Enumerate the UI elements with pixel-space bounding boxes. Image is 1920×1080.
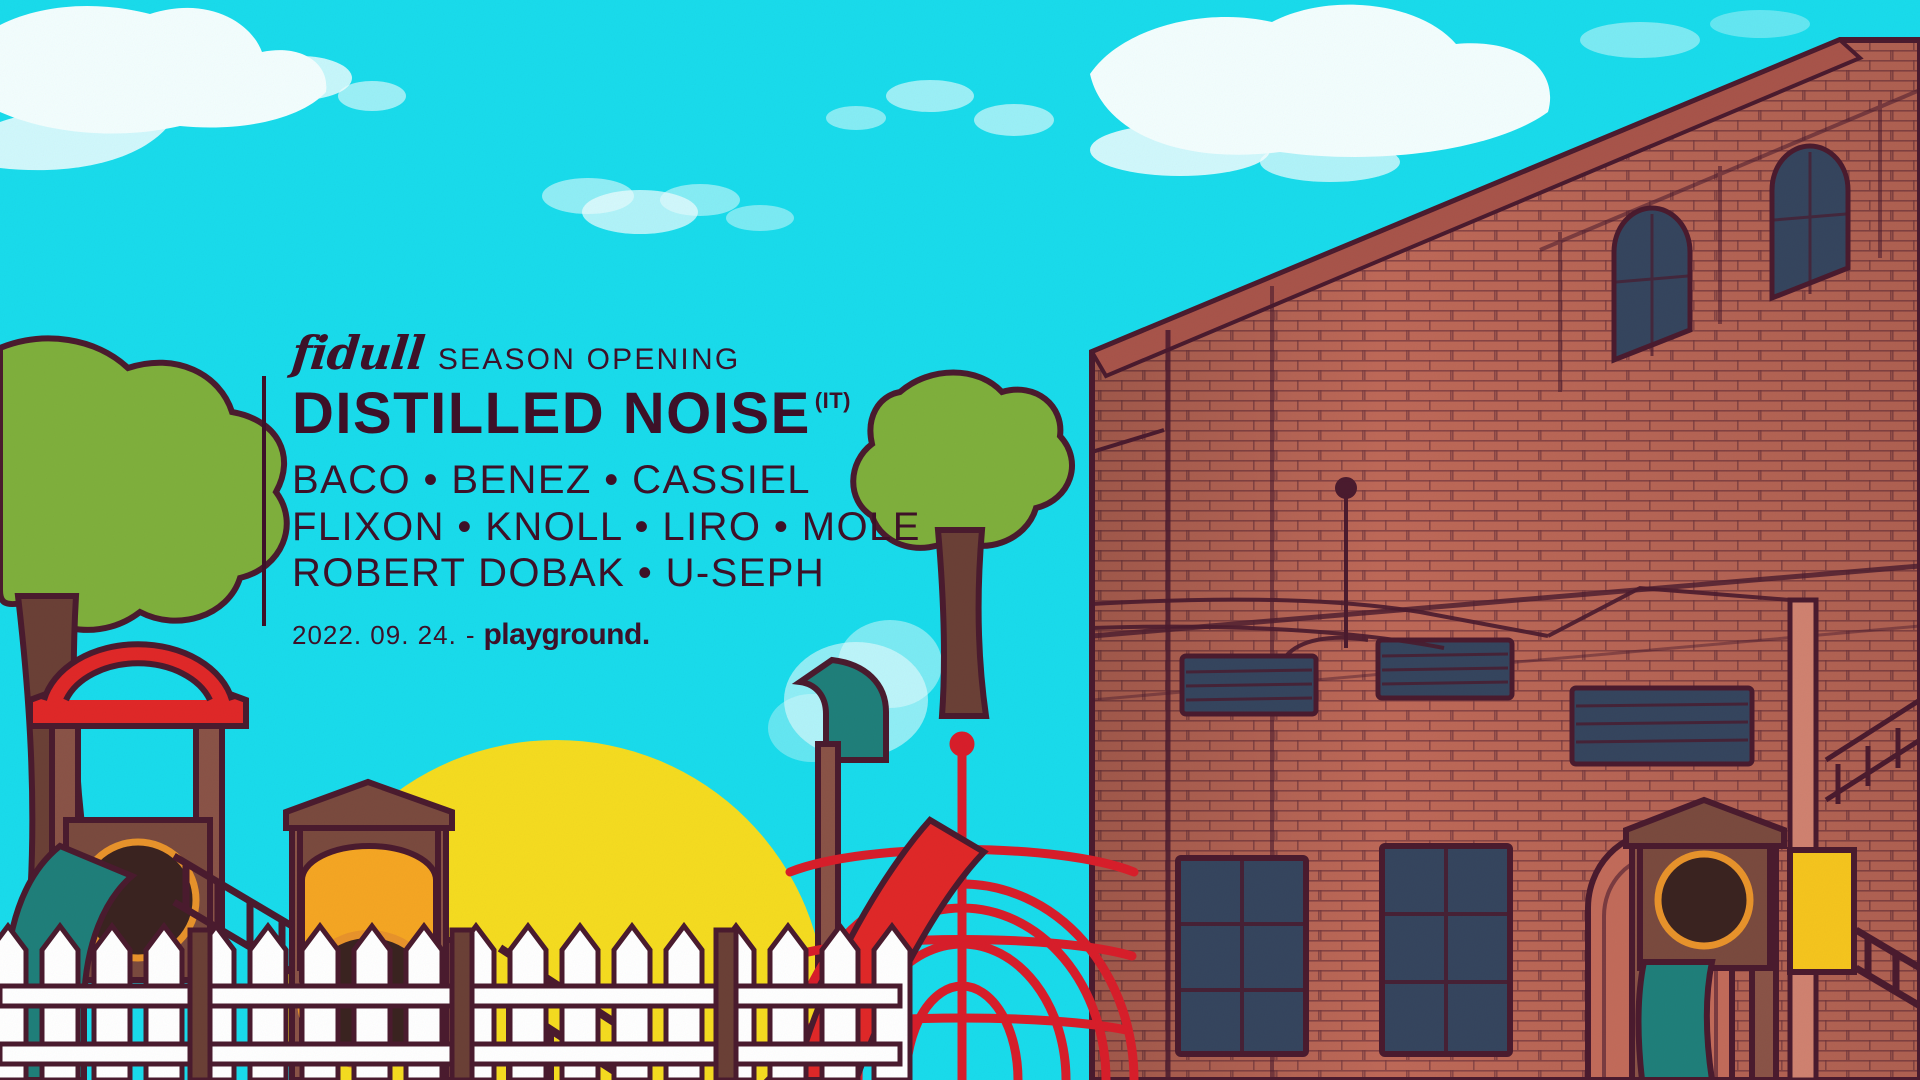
artist-lineup-line: ROBERT DOBAK • U-SEPH (262, 550, 982, 596)
artist-lineup-list: BACO • BENEZ • CASSIEL FLIXON • KNOLL • … (262, 457, 982, 596)
artist-lineup-line: FLIXON • KNOLL • LIRO • MOLE (262, 504, 982, 550)
venue-playground-logo: playground. (483, 618, 649, 652)
vertical-rule-divider (262, 376, 266, 626)
artist-lineup-line: BACO • BENEZ • CASSIEL (262, 457, 982, 503)
season-opening-label: SEASON OPENING (438, 345, 741, 375)
event-date: 2022. 09. 24. (292, 620, 457, 651)
event-poster: fidull SEASON OPENING DISTILLED NOISE (I… (0, 0, 1920, 1080)
footer-row: 2022. 09. 24. - playground. (262, 618, 982, 652)
footer-separator: - (466, 620, 475, 651)
headline-country-tag: (IT) (815, 388, 851, 414)
poster-text-block: fidull SEASON OPENING DISTILLED NOISE (I… (262, 330, 982, 652)
fidull-brand-logo: fidull (290, 330, 427, 376)
headline-row: DISTILLED NOISE (IT) (262, 384, 982, 443)
headline-artist-name: DISTILLED NOISE (292, 384, 811, 443)
eyebrow-row: fidull SEASON OPENING (262, 330, 982, 376)
